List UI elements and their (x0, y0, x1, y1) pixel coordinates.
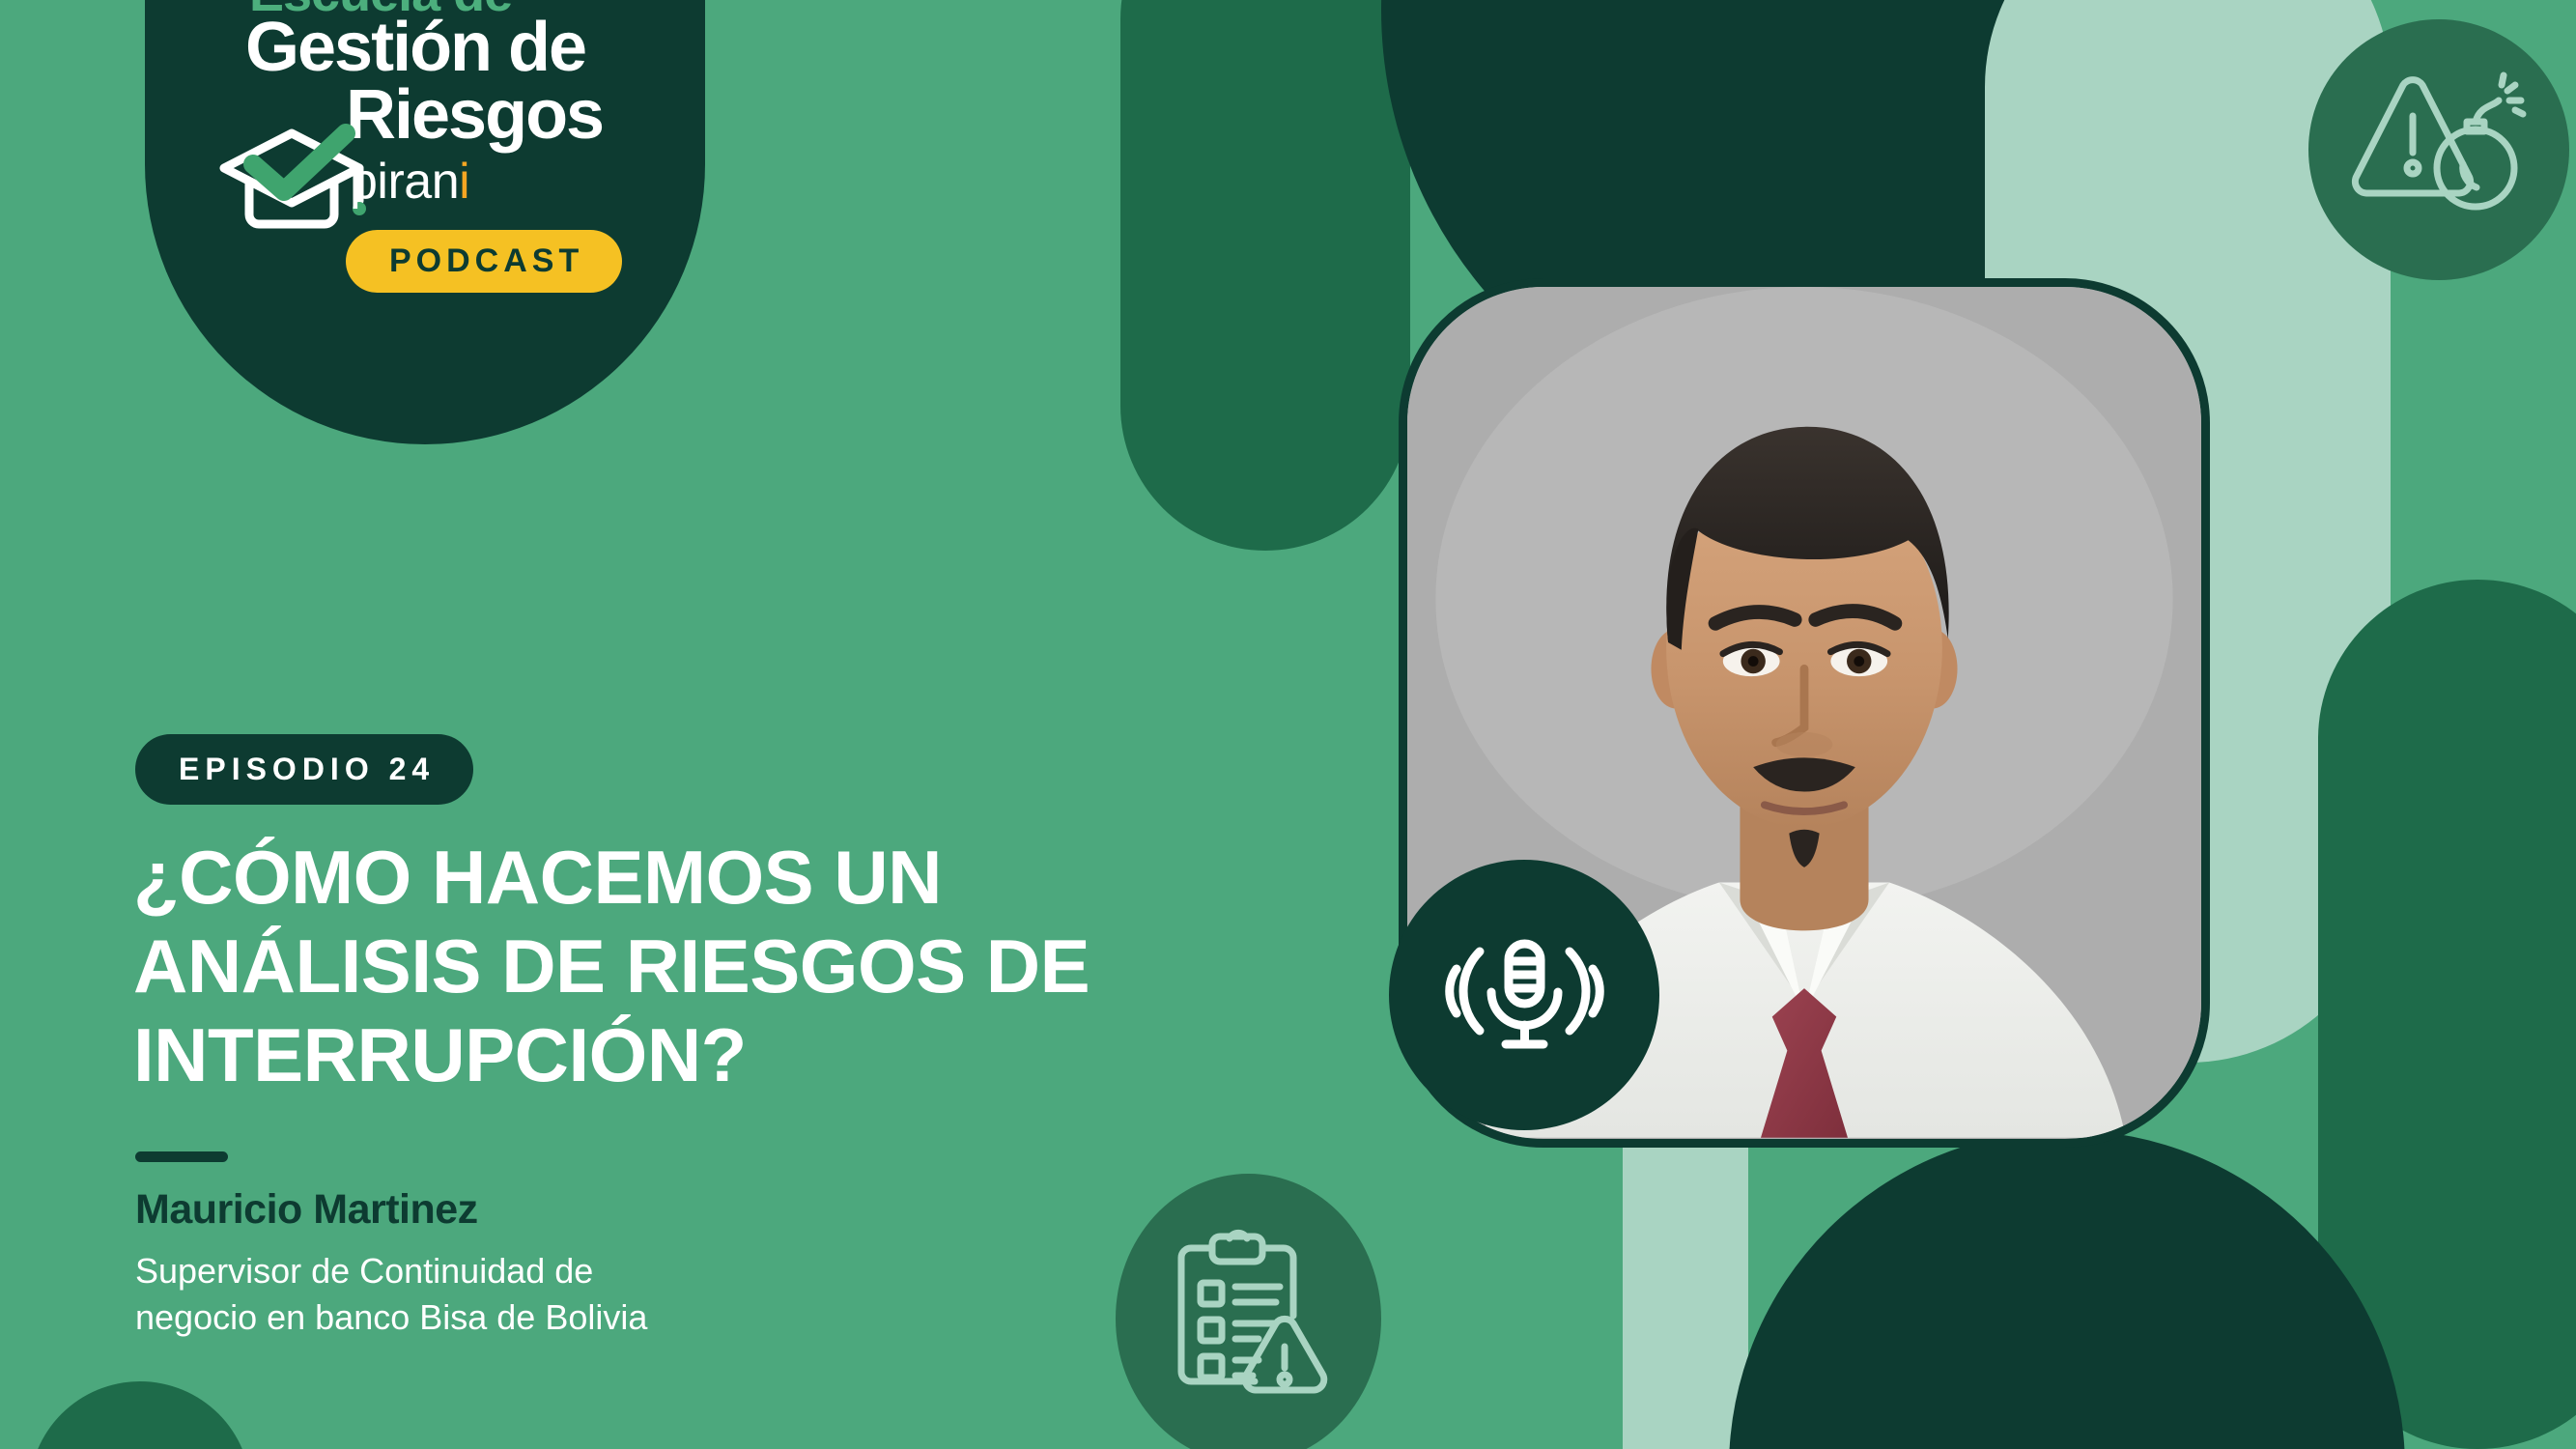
brand-logo-badge: Escuela de Gestión de Riesgos pirani POD… (145, 0, 705, 444)
episode-number-badge: EPISODIO 24 (135, 734, 473, 805)
episode-title-line-2: ANÁLISIS DE RIESGOS DE (133, 922, 1273, 1010)
warning-triangle-bomb-icon (2347, 68, 2531, 232)
microphone-badge (1389, 860, 1659, 1130)
guest-name: Mauricio Martinez (135, 1186, 478, 1234)
warning-triangle-bomb-badge (2308, 19, 2569, 280)
clipboard-checklist-warning-badge (1116, 1174, 1381, 1449)
bg-shape-dark-blob-bottom (1729, 1130, 2405, 1449)
logo-wordmark-text: pirani (350, 154, 469, 210)
guest-role-line-1: Supervisor de Continuidad de (135, 1248, 734, 1294)
guest-role: Supervisor de Continuidad de negocio en … (135, 1248, 734, 1341)
clipboard-checklist-warning-icon (1162, 1227, 1336, 1410)
guest-role-line-2: negocio en banco Bisa de Bolivia (135, 1294, 734, 1341)
episode-title-line-3: INTERRUPCIÓN? (133, 1010, 1273, 1099)
podcast-microphone-icon (1445, 923, 1604, 1067)
bg-shape-dark-pill-top (1120, 0, 1410, 551)
podcast-badge: PODCAST (346, 230, 622, 293)
episode-title-line-1: ¿CÓMO HACEMOS UN (133, 833, 1273, 922)
bg-shape-dark-pill-left (29, 1381, 251, 1449)
logo-wordmark-accent-dot: i (459, 154, 469, 210)
episode-title: ¿CÓMO HACEMOS UN ANÁLISIS DE RIESGOS DE … (133, 833, 1273, 1099)
logo-wordmark-pirani: pirani (350, 153, 469, 211)
title-divider (135, 1151, 228, 1162)
podcast-cover: Escuela de Gestión de Riesgos pirani POD… (0, 0, 2576, 1449)
